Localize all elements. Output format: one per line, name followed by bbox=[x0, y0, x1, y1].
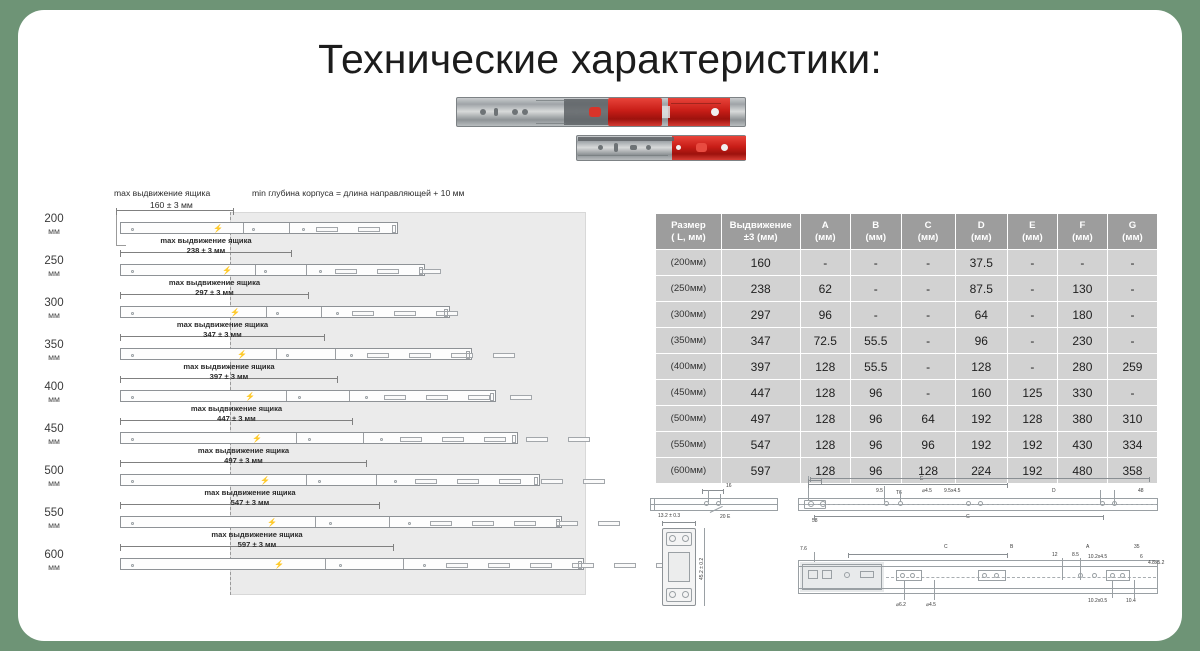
cell-value: - bbox=[901, 380, 955, 406]
table-col-header-2: Выдвижение±3 (мм) bbox=[721, 214, 800, 250]
cell-value: 310 bbox=[1107, 406, 1157, 432]
cell-value: - bbox=[851, 276, 902, 302]
rail-mount-mark bbox=[510, 395, 532, 400]
size-value: 550 bbox=[44, 507, 63, 519]
rail-200: ⚡ bbox=[120, 222, 398, 234]
rail-mount-mark bbox=[400, 437, 422, 442]
rail-mount-mark bbox=[442, 437, 464, 442]
rail-mount-mark bbox=[446, 563, 468, 568]
size-unit: мм bbox=[28, 519, 80, 531]
table-col-header-6: D(мм) bbox=[955, 214, 1007, 250]
cell-value: 180 bbox=[1057, 302, 1107, 328]
rail-hole bbox=[298, 396, 301, 399]
rail-hole bbox=[131, 522, 134, 525]
label-dim-C: C bbox=[944, 544, 948, 550]
size-value: 300 bbox=[44, 297, 63, 309]
cell-size: (500мм) bbox=[656, 406, 722, 432]
label-dim-76: 7.6 bbox=[800, 546, 807, 552]
rail-segment bbox=[306, 475, 377, 485]
annotation-text: max выдвижение ящика bbox=[120, 236, 292, 246]
cell-value: 497 bbox=[721, 406, 800, 432]
rail-300: ⚡ bbox=[120, 306, 450, 318]
annotation-value: 397 ± 3 мм bbox=[120, 372, 338, 382]
rail-hole bbox=[302, 228, 305, 231]
label-profile-width: 13.2 ± 0.3 bbox=[658, 513, 680, 519]
rail-mount-mark bbox=[530, 563, 552, 568]
size-unit: мм bbox=[28, 393, 80, 405]
cell-value: 160 bbox=[955, 380, 1007, 406]
label-dim-62: ⌀6.2 bbox=[896, 602, 906, 608]
size-label-250: 250мм bbox=[28, 255, 80, 279]
size-label-550: 550мм bbox=[28, 507, 80, 531]
extension-annotation: max выдвижение ящика597 ± 3 мм bbox=[120, 530, 394, 549]
col-header-line2: (мм) bbox=[853, 232, 899, 244]
rail-hole bbox=[318, 480, 321, 483]
rail-end-bracket bbox=[578, 561, 582, 569]
cell-value: 64 bbox=[901, 406, 955, 432]
size-value: 350 bbox=[44, 339, 63, 351]
rail-latch-icon: ⚡ bbox=[267, 519, 277, 527]
cell-value: 128 bbox=[800, 406, 851, 432]
cell-value: 160 bbox=[721, 250, 800, 276]
annotation-text: max выдвижение ящика bbox=[120, 530, 394, 540]
cell-value: 55.5 bbox=[851, 354, 902, 380]
size-label-400: 400мм bbox=[28, 381, 80, 405]
rail-550: ⚡ bbox=[120, 516, 562, 528]
col-header-line1: E bbox=[1010, 220, 1055, 232]
rail-mount-mark bbox=[472, 521, 494, 526]
rail-mount-mark bbox=[526, 437, 548, 442]
rail-hole bbox=[365, 396, 368, 399]
label-dim-48x52: 4.8x5.2 bbox=[1148, 560, 1164, 566]
size-label-450: 450мм bbox=[28, 423, 80, 447]
rail-mount-mark bbox=[583, 479, 605, 484]
cell-size: (250мм) bbox=[656, 276, 722, 302]
rail-mount-mark bbox=[598, 521, 620, 526]
rail-mount-mark bbox=[430, 521, 452, 526]
cell-value: 547 bbox=[721, 432, 800, 458]
rail-hole bbox=[131, 438, 134, 441]
rail-mount-mark bbox=[572, 563, 594, 568]
size-value: 450 bbox=[44, 423, 63, 435]
size-value: 500 bbox=[44, 465, 63, 477]
label-dim-48: 48 bbox=[1138, 488, 1144, 494]
cell-value: 96 bbox=[851, 432, 902, 458]
cell-value: 72.5 bbox=[800, 328, 851, 354]
cell-value: 334 bbox=[1107, 432, 1157, 458]
rail-latch-icon: ⚡ bbox=[230, 309, 240, 317]
extension-annotation: max выдвижение ящика238 ± 3 мм bbox=[120, 236, 292, 255]
size-value: 200 bbox=[44, 213, 63, 225]
cell-value: 347 bbox=[721, 328, 800, 354]
table-row: (450мм)44712896-160125330- bbox=[656, 380, 1158, 406]
rail-mount-mark bbox=[568, 437, 590, 442]
rail-hole bbox=[423, 564, 426, 567]
cell-value: 125 bbox=[1007, 380, 1057, 406]
rail-mount-mark bbox=[335, 269, 357, 274]
rail-450: ⚡ bbox=[120, 432, 518, 444]
cell-value: - bbox=[901, 276, 955, 302]
annotation-value: 238 ± 3 мм bbox=[120, 246, 292, 256]
diagram-header-left: max выдвижение ящика bbox=[114, 188, 210, 198]
cell-value: 62 bbox=[800, 276, 851, 302]
rail-segment bbox=[286, 391, 350, 401]
rail-hole bbox=[131, 312, 134, 315]
label-dim-12: 12 bbox=[1052, 552, 1058, 558]
rail-mount-mark bbox=[316, 227, 338, 232]
cell-value: 96 bbox=[955, 328, 1007, 354]
cell-value: - bbox=[1007, 328, 1057, 354]
size-value: 250 bbox=[44, 255, 63, 267]
rail-mount-mark bbox=[394, 311, 416, 316]
annotation-value: 447 ± 3 мм bbox=[120, 414, 353, 424]
extension-annotation: max выдвижение ящика397 ± 3 мм bbox=[120, 362, 338, 381]
rail-segment bbox=[296, 433, 364, 443]
table-col-header-1: Размер( L, мм) bbox=[656, 214, 722, 250]
rail-latch-icon: ⚡ bbox=[222, 267, 232, 275]
cell-value: 238 bbox=[721, 276, 800, 302]
rail-600: ⚡ bbox=[120, 558, 584, 570]
col-header-line2: (мм) bbox=[803, 232, 849, 244]
col-header-line1: G bbox=[1110, 220, 1155, 232]
rail-hole bbox=[339, 564, 342, 567]
rail-segment bbox=[315, 517, 390, 527]
cell-value: 430 bbox=[1057, 432, 1107, 458]
table-col-header-3: A(мм) bbox=[800, 214, 851, 250]
rail-hole bbox=[350, 354, 353, 357]
rail-hole bbox=[131, 564, 134, 567]
size-unit: мм bbox=[28, 309, 80, 321]
label-dim-D: D bbox=[1052, 488, 1056, 494]
extension-annotation: max выдвижение ящика497 ± 3 мм bbox=[120, 446, 367, 465]
label-dim-A: A bbox=[1086, 544, 1089, 550]
annotation-value: 347 ± 3 мм bbox=[120, 330, 325, 340]
col-header-line1: F bbox=[1060, 220, 1105, 232]
table-row: (200мм)160---37.5--- bbox=[656, 250, 1158, 276]
cell-value: - bbox=[1007, 276, 1057, 302]
cell-value: 192 bbox=[1007, 432, 1057, 458]
col-header-line1: D bbox=[958, 220, 1005, 232]
rail-hole bbox=[286, 354, 289, 357]
size-value: 400 bbox=[44, 381, 63, 393]
rail-hole bbox=[319, 270, 322, 273]
rail-hole bbox=[131, 228, 134, 231]
col-header-line2: (мм) bbox=[1010, 232, 1055, 244]
cell-value: 192 bbox=[955, 406, 1007, 432]
rail-latch-icon: ⚡ bbox=[245, 393, 255, 401]
rail-latch-icon: ⚡ bbox=[237, 351, 247, 359]
col-header-line1: Выдвижение bbox=[724, 220, 798, 232]
col-header-line1: B bbox=[853, 220, 899, 232]
cell-value: - bbox=[1007, 302, 1057, 328]
col-header-line2: (мм) bbox=[1110, 232, 1155, 244]
rail-photo-upper bbox=[456, 97, 746, 127]
cell-size: (300мм) bbox=[656, 302, 722, 328]
cell-value: 192 bbox=[955, 432, 1007, 458]
size-unit: мм bbox=[28, 351, 80, 363]
rail-segment bbox=[266, 307, 322, 317]
cell-value: - bbox=[901, 250, 955, 276]
label-dim-102x45: 10.2x4.5 bbox=[1088, 554, 1107, 560]
cell-value: - bbox=[1057, 250, 1107, 276]
label-dim-45b: ⌀4.5 bbox=[926, 602, 936, 608]
size-unit: мм bbox=[28, 435, 80, 447]
cell-value: - bbox=[1107, 302, 1157, 328]
rail-mount-mark bbox=[499, 479, 521, 484]
extension-annotation: max выдвижение ящика297 ± 3 мм bbox=[120, 278, 309, 297]
size-value: 600 bbox=[44, 549, 63, 561]
extension-annotation: max выдвижение ящика547 ± 3 мм bbox=[120, 488, 380, 507]
cell-value: - bbox=[901, 328, 955, 354]
cell-value: 128 bbox=[800, 432, 851, 458]
extension-annotation: max выдвижение ящика347 ± 3 мм bbox=[120, 320, 325, 339]
col-header-line2: ±3 (мм) bbox=[724, 232, 798, 244]
rail-mount-mark bbox=[377, 269, 399, 274]
top-extension-dim-line bbox=[116, 210, 234, 211]
annotation-value: 547 ± 3 мм bbox=[120, 498, 380, 508]
label-top-hole: 20 E bbox=[720, 514, 730, 520]
table-row: (300мм)29796--64-180- bbox=[656, 302, 1158, 328]
rail-mount-mark bbox=[614, 563, 636, 568]
annotation-value: 297 ± 3 мм bbox=[120, 288, 309, 298]
cell-value: 96 bbox=[851, 406, 902, 432]
rail-mount-mark bbox=[541, 479, 563, 484]
table-col-header-9: G(мм) bbox=[1107, 214, 1157, 250]
size-unit: мм bbox=[28, 225, 80, 237]
table-col-header-5: C(мм) bbox=[901, 214, 955, 250]
size-unit: мм bbox=[28, 477, 80, 489]
cell-value: 128 bbox=[955, 354, 1007, 380]
label-dim-1020: 10.2x0.5 bbox=[1088, 598, 1107, 604]
rail-hole bbox=[380, 438, 383, 441]
cell-size: (550мм) bbox=[656, 432, 722, 458]
label-dim-6: 6 bbox=[1140, 554, 1143, 560]
rail-350: ⚡ bbox=[120, 348, 472, 360]
rail-segment bbox=[243, 223, 290, 233]
cell-value: - bbox=[1107, 328, 1157, 354]
annotation-text: max выдвижение ящика bbox=[120, 278, 309, 288]
label-dim-104: 10.4 bbox=[1126, 598, 1136, 604]
rail-latch-icon: ⚡ bbox=[252, 435, 262, 443]
rail-mount-mark bbox=[367, 353, 389, 358]
rail-mount-mark bbox=[415, 479, 437, 484]
rail-hole bbox=[131, 480, 134, 483]
cell-value: 259 bbox=[1107, 354, 1157, 380]
cell-value: 64 bbox=[955, 302, 1007, 328]
rail-mount-mark bbox=[514, 521, 536, 526]
first-row-bracket bbox=[116, 210, 126, 246]
rail-segment bbox=[325, 559, 404, 569]
annotation-text: max выдвижение ящика bbox=[120, 404, 353, 414]
cell-value: - bbox=[851, 302, 902, 328]
rail-mount-mark bbox=[468, 395, 490, 400]
col-header-line2: ( L, мм) bbox=[658, 232, 719, 244]
label-dim-95x45: 9.5x4.5 bbox=[944, 488, 960, 494]
cell-value: 297 bbox=[721, 302, 800, 328]
table-row: (250мм)23862--87.5-130- bbox=[656, 276, 1158, 302]
rail-mount-mark bbox=[384, 395, 406, 400]
table-row: (550мм)5471289696192192430334 bbox=[656, 432, 1158, 458]
cell-size: (400мм) bbox=[656, 354, 722, 380]
table-col-header-8: F(мм) bbox=[1057, 214, 1107, 250]
rail-mount-mark bbox=[451, 353, 473, 358]
rail-hole bbox=[131, 270, 134, 273]
annotation-value: 497 ± 3 мм bbox=[120, 456, 367, 466]
label-dim-35: 35 bbox=[1134, 544, 1140, 550]
cell-value: 128 bbox=[800, 380, 851, 406]
rail-mount-mark bbox=[484, 437, 506, 442]
label-dim-G: G bbox=[966, 514, 970, 520]
col-header-line2: (мм) bbox=[958, 232, 1005, 244]
cell-size: (450мм) bbox=[656, 380, 722, 406]
rail-end-bracket bbox=[512, 435, 516, 443]
col-header-line2: (мм) bbox=[1060, 232, 1105, 244]
cell-value: 280 bbox=[1057, 354, 1107, 380]
rail-hole bbox=[131, 396, 134, 399]
rail-hole bbox=[408, 522, 411, 525]
diagram-header-right: min глубина корпуса = длина направляющей… bbox=[252, 188, 464, 198]
size-label-500: 500мм bbox=[28, 465, 80, 489]
cell-value: 230 bbox=[1057, 328, 1107, 354]
slide-panel: Технические характеристики: bbox=[18, 10, 1182, 641]
rail-hole bbox=[308, 438, 311, 441]
rail-end-bracket bbox=[419, 267, 423, 275]
cell-value: 128 bbox=[800, 354, 851, 380]
size-label-200: 200мм bbox=[28, 213, 80, 237]
rail-latch-icon: ⚡ bbox=[213, 225, 223, 233]
size-label-350: 350мм bbox=[28, 339, 80, 363]
rail-end-bracket bbox=[466, 351, 470, 359]
cell-value: - bbox=[901, 354, 955, 380]
extension-diagram: max выдвижение ящика 160 ± 3 мм min глуб… bbox=[54, 180, 599, 605]
cell-value: - bbox=[1007, 354, 1057, 380]
rail-end-bracket bbox=[444, 309, 448, 317]
cell-value: - bbox=[851, 250, 902, 276]
rail-mount-mark bbox=[352, 311, 374, 316]
extension-annotation: max выдвижение ящика447 ± 3 мм bbox=[120, 404, 353, 423]
table-col-header-4: B(мм) bbox=[851, 214, 902, 250]
cell-value: 330 bbox=[1057, 380, 1107, 406]
cell-size: (200мм) bbox=[656, 250, 722, 276]
annotation-text: max выдвижение ящика bbox=[120, 488, 380, 498]
page-title: Технические характеристики: bbox=[18, 36, 1182, 83]
annotation-value: 597 ± 3 мм bbox=[120, 540, 394, 550]
cell-value: 96 bbox=[800, 302, 851, 328]
label-dim-F: F bbox=[978, 470, 981, 476]
rail-photo-lower bbox=[576, 135, 746, 161]
rail-end-bracket bbox=[556, 519, 560, 527]
rail-mount-mark bbox=[488, 563, 510, 568]
cell-value: 130 bbox=[1057, 276, 1107, 302]
rail-mount-mark bbox=[426, 395, 448, 400]
cell-value: - bbox=[1107, 380, 1157, 406]
col-header-line1: Размер bbox=[658, 220, 719, 232]
cell-value: 380 bbox=[1057, 406, 1107, 432]
diagram-header-left-value: 160 ± 3 мм bbox=[150, 200, 193, 210]
cell-value: 96 bbox=[851, 380, 902, 406]
cell-value: - bbox=[800, 250, 851, 276]
cell-value: 447 bbox=[721, 380, 800, 406]
rail-hole bbox=[276, 312, 279, 315]
rail-hole bbox=[329, 522, 332, 525]
rail-400: ⚡ bbox=[120, 390, 496, 402]
rail-mount-mark bbox=[457, 479, 479, 484]
rail-latch-icon: ⚡ bbox=[260, 477, 270, 485]
table-col-header-7: E(мм) bbox=[1007, 214, 1057, 250]
rail-250: ⚡ bbox=[120, 264, 425, 276]
rail-hole bbox=[336, 312, 339, 315]
label-dim-95: 9.5 bbox=[876, 488, 883, 494]
col-header-line1: A bbox=[803, 220, 849, 232]
rail-mount-mark bbox=[409, 353, 431, 358]
table-row: (500мм)4971289664192128380310 bbox=[656, 406, 1158, 432]
rail-hole bbox=[252, 228, 255, 231]
rail-end-bracket bbox=[534, 477, 538, 485]
rail-mount-mark bbox=[358, 227, 380, 232]
cell-value: 397 bbox=[721, 354, 800, 380]
cell-value: - bbox=[1107, 276, 1157, 302]
rail-hole bbox=[394, 480, 397, 483]
cell-value: - bbox=[1107, 250, 1157, 276]
rail-hole bbox=[131, 354, 134, 357]
table-row: (400мм)39712855.5-128-280259 bbox=[656, 354, 1158, 380]
cell-value: 96 bbox=[901, 432, 955, 458]
product-photo bbox=[456, 93, 746, 173]
technical-drawing: 16 20 E 13.2 ± 0.3 45.2 ± 0.2 58 bbox=[648, 468, 1168, 616]
annotation-text: max выдвижение ящика bbox=[120, 446, 367, 456]
rail-segment bbox=[276, 349, 336, 359]
rail-end-bracket bbox=[490, 393, 494, 401]
rail-end-bracket bbox=[392, 225, 396, 233]
label-top-small: 16 bbox=[726, 483, 732, 489]
size-unit: мм bbox=[28, 267, 80, 279]
size-label-300: 300мм bbox=[28, 297, 80, 321]
cell-value: - bbox=[1007, 250, 1057, 276]
label-dim-E: E bbox=[920, 476, 923, 482]
annotation-text: max выдвижение ящика bbox=[120, 320, 325, 330]
cell-value: 87.5 bbox=[955, 276, 1007, 302]
cell-value: 37.5 bbox=[955, 250, 1007, 276]
size-label-600: 600мм bbox=[28, 549, 80, 573]
cell-value: 55.5 bbox=[851, 328, 902, 354]
col-header-line2: (мм) bbox=[904, 232, 953, 244]
table-header-row: Размер( L, мм)Выдвижение±3 (мм)A(мм)B(мм… bbox=[656, 214, 1158, 250]
size-unit: мм bbox=[28, 561, 80, 573]
cell-size: (350мм) bbox=[656, 328, 722, 354]
label-dim-B: B bbox=[1010, 544, 1013, 550]
annotation-text: max выдвижение ящика bbox=[120, 362, 338, 372]
rail-500: ⚡ bbox=[120, 474, 540, 486]
table-row: (350мм)34772.555.5-96-230- bbox=[656, 328, 1158, 354]
rail-segment bbox=[255, 265, 307, 275]
rail-hole bbox=[264, 270, 267, 273]
spec-table: Размер( L, мм)Выдвижение±3 (мм)A(мм)B(мм… bbox=[655, 213, 1158, 484]
table-body: (200мм)160---37.5---(250мм)23862--87.5-1… bbox=[656, 250, 1158, 484]
rail-latch-icon: ⚡ bbox=[274, 561, 284, 569]
rail-mount-mark bbox=[493, 353, 515, 358]
label-dim-85: 8.5 bbox=[1072, 552, 1079, 558]
cell-value: - bbox=[901, 302, 955, 328]
col-header-line1: C bbox=[904, 220, 953, 232]
label-dim-45: ⌀4.5 bbox=[922, 488, 932, 494]
cell-value: 128 bbox=[1007, 406, 1057, 432]
